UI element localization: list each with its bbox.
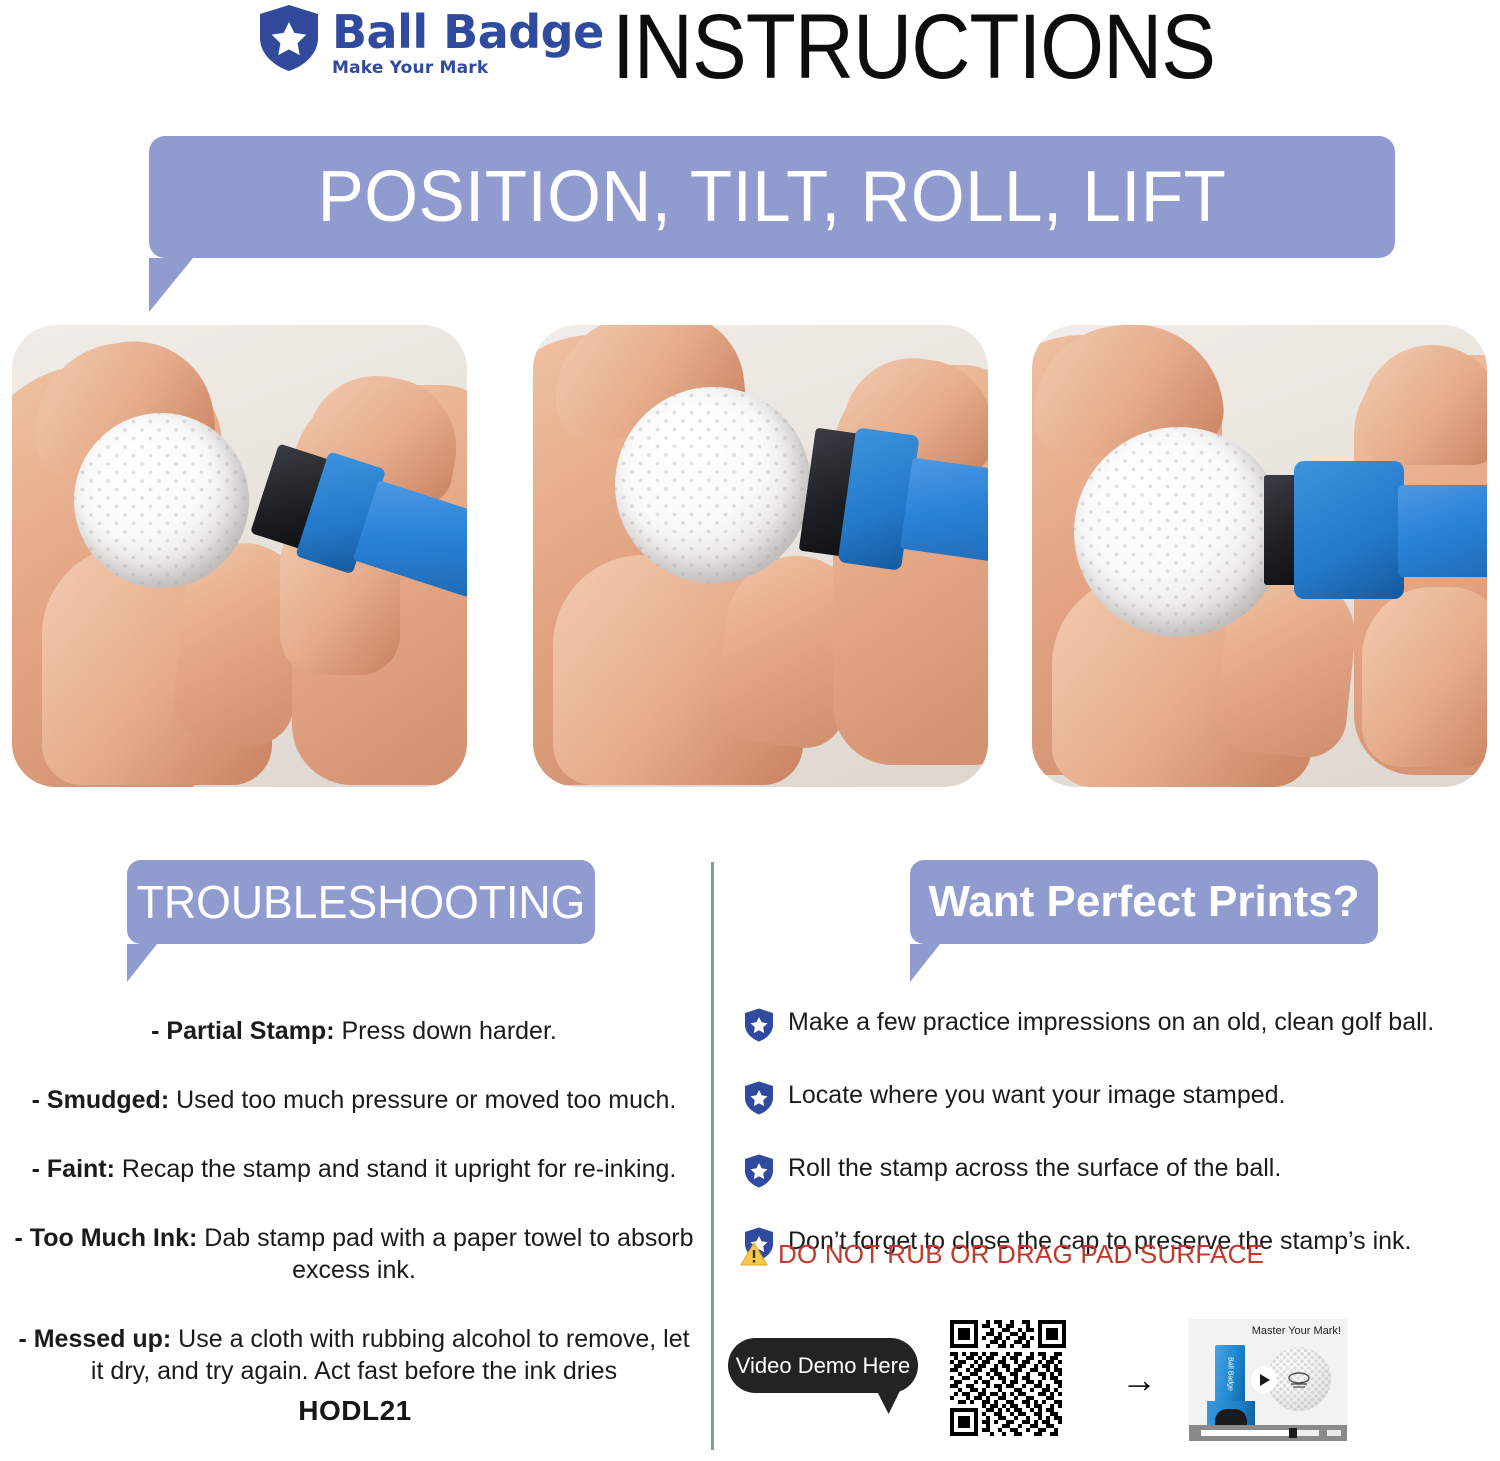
play-button-icon[interactable]	[1251, 1367, 1277, 1393]
list-item: - Too Much Ink: Dab stamp pad with a pap…	[0, 1222, 710, 1286]
warning-text: DO NOT RUB OR DRAG PAD SURFACE	[778, 1240, 1264, 1268]
brand-text: Ball Badge Make Your Mark	[332, 4, 604, 78]
list-item: - Messed up: Use a cloth with rubbing al…	[0, 1323, 710, 1387]
step-photo-roll	[1032, 325, 1487, 787]
item-body: Use a cloth with rubbing alcohol to remo…	[91, 1325, 690, 1385]
item-lead: - Partial Stamp:	[151, 1017, 334, 1045]
warning-row: DO NOT RUB OR DRAG PAD SURFACE	[740, 1240, 1264, 1268]
list-item: Locate where you want your image stamped…	[744, 1080, 1500, 1115]
item-body: Recap the stamp and stand it upright for…	[115, 1155, 676, 1183]
shield-star-icon	[744, 1154, 774, 1188]
banner-tail	[149, 258, 193, 312]
list-item: - Partial Stamp: Press down harder.	[0, 1015, 710, 1047]
tip-text: Make a few practice impressions on an ol…	[788, 1007, 1434, 1037]
troubleshooting-banner: TROUBLESHOOTING	[127, 860, 595, 944]
item-lead: - Too Much Ink:	[15, 1224, 198, 1252]
perfect-prints-heading: Want Perfect Prints?	[910, 880, 1378, 924]
main-banner: POSITION, TILT, ROLL, LIFT	[149, 136, 1395, 258]
shield-star-icon	[258, 4, 320, 72]
item-lead: - Faint:	[32, 1155, 115, 1183]
item-body: Dab stamp pad with a paper towel to abso…	[197, 1224, 693, 1284]
page-title: INSTRUCTIONS	[612, 0, 1302, 102]
stamp-brand-label: Ball Badge	[1227, 1357, 1234, 1391]
step-photo-position	[12, 325, 467, 787]
tip-text: Roll the stamp across the surface of the…	[788, 1153, 1281, 1183]
stamp-base	[1207, 1401, 1255, 1427]
video-demo-label: Video Demo Here	[736, 1355, 910, 1377]
banner-tail	[910, 944, 940, 982]
video-title: Master Your Mark!	[1252, 1325, 1341, 1337]
shield-star-icon	[744, 1081, 774, 1115]
perfect-prints-banner: Want Perfect Prints?	[910, 860, 1378, 944]
step-photos: → →	[0, 325, 1500, 795]
tip-text: Locate where you want your image stamped…	[788, 1080, 1286, 1110]
troubleshooting-heading: TROUBLESHOOTING	[134, 879, 588, 925]
stamp-illustration: Ball Badge	[1215, 1345, 1245, 1403]
list-item: - Smudged: Used too much pressure or mov…	[0, 1084, 710, 1116]
brand-logo: Ball Badge Make Your Mark	[258, 4, 604, 78]
item-lead: - Smudged:	[32, 1086, 170, 1114]
item-body: Press down harder.	[335, 1017, 557, 1045]
qr-code-icon[interactable]	[950, 1320, 1066, 1436]
page-header: Ball Badge Make Your Mark INSTRUCTIONS	[0, 0, 1500, 100]
troubleshooting-list: - Partial Stamp: Press down harder. - Sm…	[0, 1015, 710, 1424]
list-item: Roll the stamp across the surface of the…	[744, 1153, 1500, 1188]
shield-star-icon	[744, 1008, 774, 1042]
item-lead: - Messed up:	[18, 1325, 171, 1353]
instruction-sheet: Ball Badge Make Your Mark INSTRUCTIONS P…	[0, 0, 1500, 1461]
bubble-tail	[873, 1388, 902, 1414]
video-thumbnail[interactable]: Master Your Mark! Ball Badge	[1189, 1319, 1347, 1441]
list-item: Make a few practice impressions on an ol…	[744, 1007, 1500, 1042]
banner-tail	[127, 944, 157, 982]
item-body: Used too much pressure or moved too much…	[169, 1086, 676, 1114]
product-code: HODL21	[0, 1395, 710, 1427]
ball-mark-icon	[1284, 1370, 1314, 1390]
main-banner-text: POSITION, TILT, ROLL, LIFT	[174, 161, 1370, 233]
brand-name: Ball Badge	[332, 8, 604, 56]
media-arrow: →	[1110, 1360, 1168, 1400]
list-item: - Faint: Recap the stamp and stand it up…	[0, 1153, 710, 1185]
perfect-prints-section: Want Perfect Prints? Make a few practice…	[712, 855, 1500, 1455]
troubleshooting-section: TROUBLESHOOTING - Partial Stamp: Press d…	[0, 855, 710, 1455]
brand-tagline: Make Your Mark	[332, 58, 604, 78]
video-progress-bar[interactable]	[1189, 1425, 1347, 1441]
step-photo-tilt	[533, 325, 988, 787]
media-row: Video Demo Here	[728, 1320, 1500, 1450]
video-demo-bubble[interactable]: Video Demo Here	[728, 1338, 918, 1393]
warning-triangle-icon	[740, 1241, 768, 1267]
